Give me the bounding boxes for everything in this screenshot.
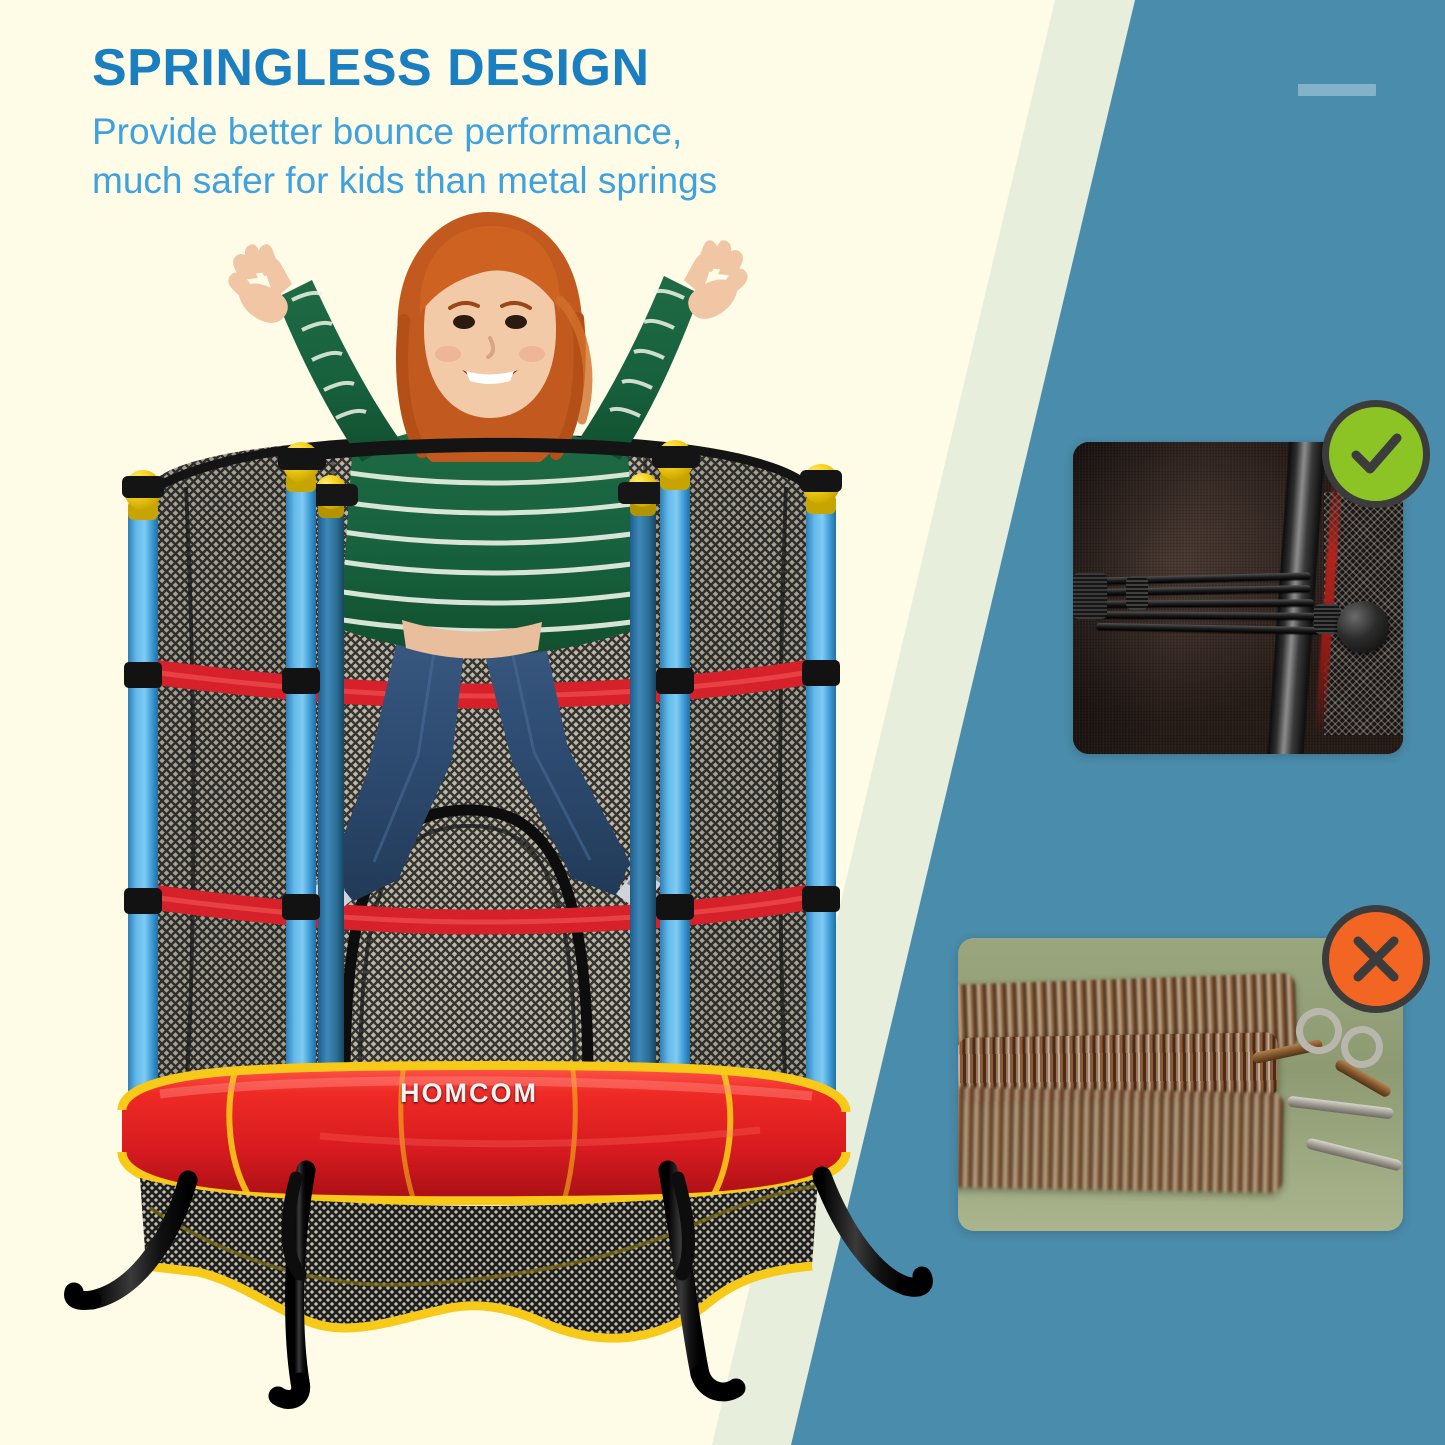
safety-pad bbox=[122, 1063, 846, 1201]
spring-coil-bottom bbox=[958, 1087, 1284, 1192]
cross-icon bbox=[1322, 905, 1430, 1013]
spring-wire-1 bbox=[1287, 1096, 1394, 1120]
webbing-strap bbox=[1073, 573, 1107, 619]
spring-wire-2 bbox=[1305, 1137, 1403, 1171]
infographic-stage: SPRINGLESS DESIGN Provide better bounce … bbox=[0, 0, 1445, 1445]
product-photo-trampoline bbox=[0, 0, 1000, 1445]
top-right-dash bbox=[1298, 84, 1376, 96]
cord-loop-knot bbox=[1126, 576, 1148, 610]
check-icon bbox=[1322, 400, 1430, 508]
cord-stopper-ball bbox=[1337, 601, 1389, 653]
cord-ball-knot bbox=[1314, 604, 1340, 634]
